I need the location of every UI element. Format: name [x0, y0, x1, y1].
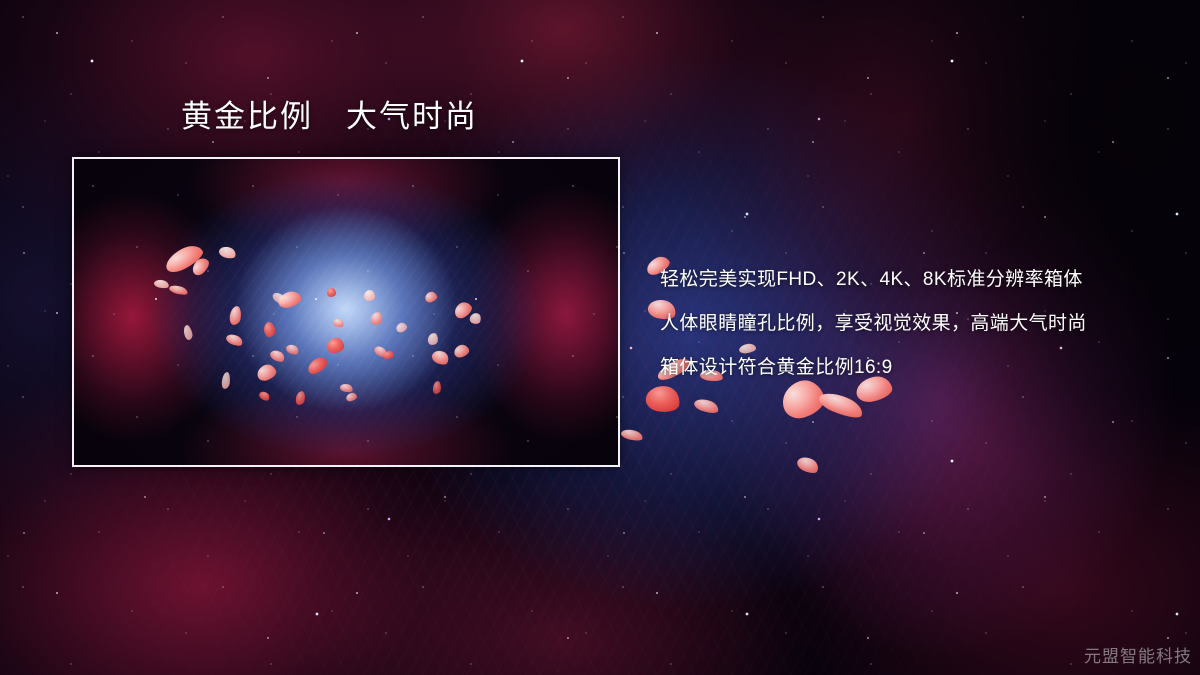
framed-picture — [72, 157, 620, 467]
nebula-photo — [74, 159, 618, 465]
watermark: 元盟智能科技 — [1084, 642, 1192, 667]
slide-title: 黄金比例 大气时尚 — [181, 100, 478, 134]
body-copy-line: 轻松完美实现FHD、2K、4K、8K标准分辨率箱体 — [660, 258, 1180, 302]
body-copy-block: 轻松完美实现FHD、2K、4K、8K标准分辨率箱体 人体眼睛瞳孔比例，享受视觉效… — [660, 258, 1180, 390]
photo-starfield — [74, 159, 618, 465]
body-copy-line: 箱体设计符合黄金比例16:9 — [660, 346, 1180, 390]
body-copy-line: 人体眼睛瞳孔比例，享受视觉效果，高端大气时尚 — [660, 302, 1180, 346]
slide-canvas: 黄金比例 大气时尚 轻松完美实现FHD、2K、4K、8K标准分辨率箱体 人体眼睛… — [0, 0, 1200, 675]
